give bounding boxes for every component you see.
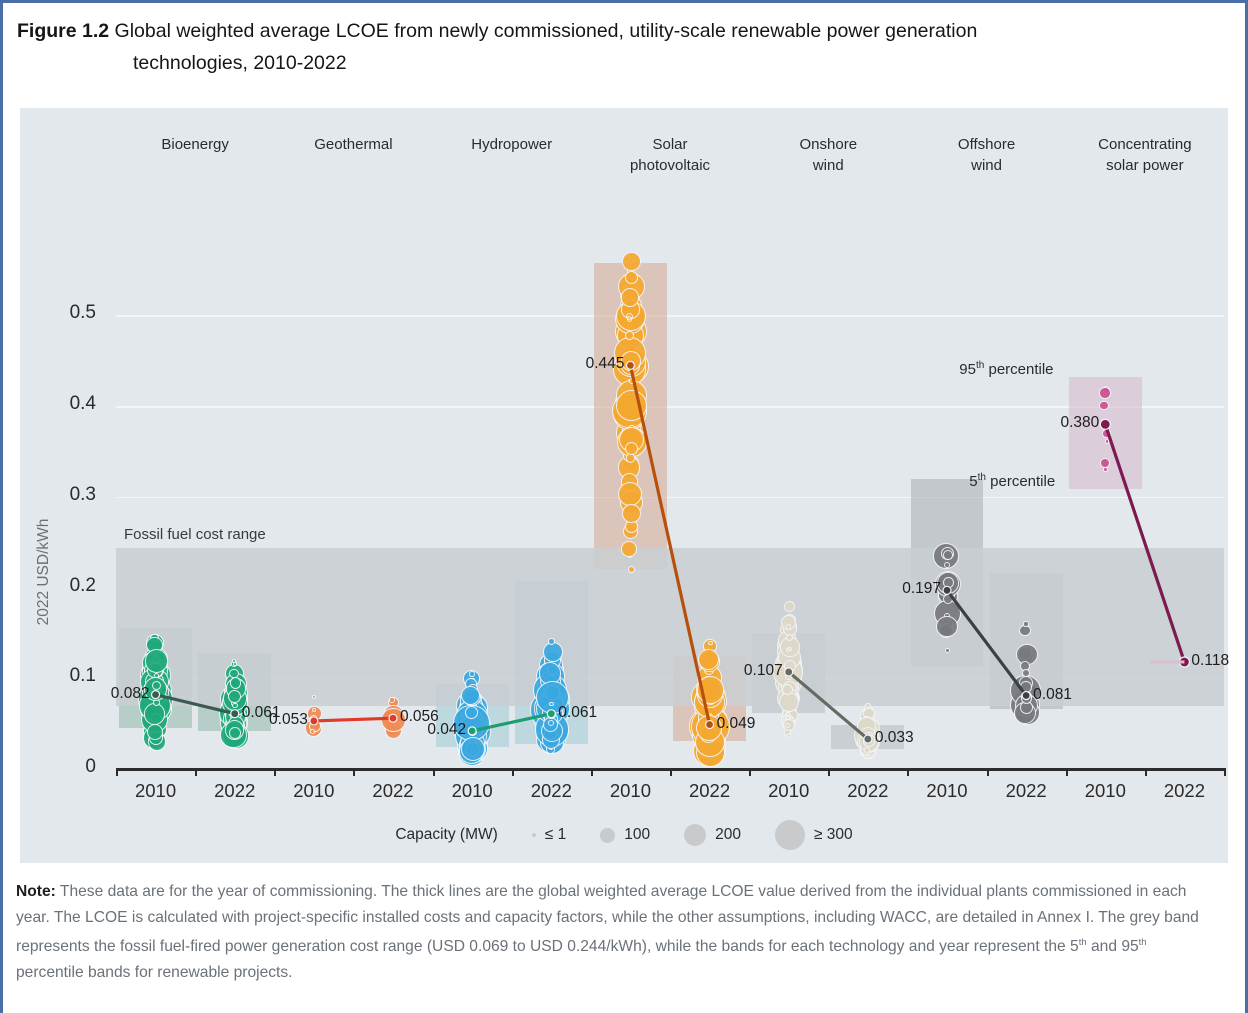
x-axis-tick-mark [433, 768, 435, 776]
x-tick-label: 2010 [585, 780, 675, 802]
p95-annotation: 95th percentile [959, 360, 1053, 378]
x-axis-tick-mark [1145, 768, 1147, 776]
data-point [784, 601, 795, 612]
data-point [865, 703, 870, 708]
figure-page: Figure 1.2 Global weighted average LCOE … [0, 0, 1248, 1013]
capacity-legend: Capacity (MW)≤ 1100200≥ 300 [20, 820, 1228, 850]
note-body: These data are for the year of commissio… [16, 883, 1199, 981]
technology-label-concentrating-solar-power: Concentratingsolar power [1065, 134, 1225, 176]
y-tick-label: 0.3 [20, 484, 96, 506]
data-point [936, 616, 957, 637]
x-tick-label: 2022 [981, 780, 1071, 802]
x-axis-tick-mark [907, 768, 909, 776]
x-tick-label: 2022 [506, 780, 596, 802]
x-axis-tick-mark [353, 768, 355, 776]
data-point [786, 634, 793, 641]
legend-item-label: ≤ 1 [545, 826, 566, 843]
note-text: Note: These data are for the year of com… [16, 879, 1216, 985]
data-point [1025, 696, 1029, 700]
value-label: 0.033 [875, 729, 914, 747]
data-point [1105, 439, 1109, 443]
value-label: 0.081 [1033, 686, 1072, 704]
value-label: 0.197 [895, 580, 941, 598]
y-tick-label: 0.2 [20, 575, 96, 597]
data-point [469, 671, 475, 677]
legend-bubble [532, 833, 536, 837]
data-point [549, 702, 554, 707]
data-point [229, 727, 241, 739]
legend-item-label: 200 [715, 826, 741, 843]
x-tick-label: 2010 [902, 780, 992, 802]
value-label: 0.049 [717, 715, 756, 733]
technology-label-onshore-wind: Onshorewind [748, 134, 908, 176]
data-point [468, 727, 477, 736]
data-point [1020, 681, 1032, 693]
value-label: 0.042 [420, 721, 466, 739]
data-point [1102, 429, 1111, 438]
figure-title-block: Figure 1.2 Global weighted average LCOE … [3, 3, 1245, 103]
x-axis-tick-mark [987, 768, 989, 776]
value-label: 0.061 [558, 704, 597, 722]
data-point [547, 711, 556, 720]
technology-label-bioenergy: Bioenergy [115, 134, 275, 155]
data-point [698, 649, 719, 670]
x-tick-label: 2010 [269, 780, 359, 802]
legend-item-label: 100 [624, 826, 650, 843]
x-tick-label: 2010 [427, 780, 517, 802]
x-axis-tick-mark [512, 768, 514, 776]
data-point [154, 673, 159, 678]
data-point [621, 541, 637, 557]
note-label: Note: [16, 883, 56, 900]
data-point [697, 676, 724, 703]
chart-panel: 00.10.20.30.40.5 2022 USD/kWh Fossil fue… [20, 108, 1228, 863]
fossil-band-label: Fossil fuel cost range [124, 526, 266, 543]
data-point [230, 677, 242, 689]
data-point [625, 331, 634, 340]
x-axis-tick-mark [116, 768, 118, 776]
data-point [1099, 387, 1111, 399]
data-point [1100, 419, 1108, 427]
p5-annotation: 5th percentile [969, 472, 1055, 490]
note-block: Note: These data are for the year of com… [3, 865, 1245, 1013]
data-point [786, 648, 790, 652]
data-point [310, 715, 317, 722]
page-title: Figure 1.2 Global weighted average LCOE … [17, 17, 1232, 45]
data-point [144, 703, 166, 725]
y-tick-label: 0 [20, 756, 96, 778]
data-point [312, 695, 316, 699]
legend-item-label: ≥ 300 [814, 826, 853, 843]
x-tick-label: 2010 [1060, 780, 1150, 802]
data-point [864, 747, 870, 753]
data-point [782, 684, 793, 695]
legend-title: Capacity (MW) [395, 826, 497, 843]
gridline [116, 315, 1224, 317]
x-tick-label: 2022 [665, 780, 755, 802]
x-tick-label: 2022 [1139, 780, 1229, 802]
data-point [543, 642, 563, 662]
legend-bubble [775, 820, 805, 850]
x-axis-tick-mark [274, 768, 276, 776]
data-point [785, 723, 790, 728]
technology-label-geothermal: Geothermal [273, 134, 433, 155]
data-point [628, 566, 635, 573]
figure-title-line2: technologies, 2010-2022 [133, 49, 1233, 77]
data-point [1023, 621, 1028, 626]
data-point [621, 288, 640, 307]
data-point [152, 681, 161, 690]
fossil-fuel-band [116, 548, 1224, 707]
y-tick-label: 0.5 [20, 302, 96, 324]
gridline [116, 406, 1224, 408]
value-label: 0.118 [1191, 652, 1229, 670]
y-tick-label: 0.4 [20, 393, 96, 415]
figure-number: Figure 1.2 [17, 20, 109, 42]
data-point [787, 733, 791, 737]
x-axis-tick-mark [828, 768, 830, 776]
data-point [1022, 669, 1030, 677]
data-point [389, 697, 395, 703]
data-point [943, 577, 954, 588]
x-tick-label: 2010 [744, 780, 834, 802]
x-tick-label: 2022 [190, 780, 280, 802]
data-point [232, 703, 237, 708]
x-axis-tick-mark [749, 768, 751, 776]
data-point [622, 252, 641, 271]
x-axis-tick-mark [1224, 768, 1226, 776]
data-point [145, 649, 168, 672]
technology-label-solar-photovoltaic: Solarphotovoltaic [590, 134, 750, 176]
value-label: 0.082 [104, 685, 150, 703]
data-point [943, 550, 953, 560]
gridline [116, 497, 1224, 499]
data-point [616, 390, 647, 421]
value-label: 0.053 [262, 711, 308, 729]
x-axis-tick-mark [195, 768, 197, 776]
figure-title-line1: Global weighted average LCOE from newly … [115, 20, 978, 42]
data-point [1180, 658, 1188, 666]
y-tick-label: 0.1 [20, 665, 96, 687]
x-tick-label: 2022 [823, 780, 913, 802]
y-axis-label: 2022 USD/kWh [35, 462, 53, 682]
x-axis-tick-mark [1066, 768, 1068, 776]
x-tick-label: 2022 [348, 780, 438, 802]
value-label: 0.445 [578, 355, 624, 373]
data-point [629, 378, 635, 384]
data-point [461, 686, 480, 705]
data-point [708, 641, 712, 645]
x-tick-label: 2010 [111, 780, 201, 802]
legend-bubble [600, 828, 615, 843]
data-point [625, 271, 638, 284]
legend-bubble [684, 824, 706, 846]
data-point [548, 638, 555, 645]
data-point [786, 624, 791, 629]
technology-label-offshore-wind: Offshorewind [907, 134, 1067, 176]
value-label: 0.380 [1053, 414, 1099, 432]
technology-label-hydropower: Hydropower [432, 134, 592, 155]
value-label: 0.107 [737, 662, 783, 680]
data-point [1099, 401, 1108, 410]
x-axis-tick-mark [591, 768, 593, 776]
x-axis-tick-mark [670, 768, 672, 776]
